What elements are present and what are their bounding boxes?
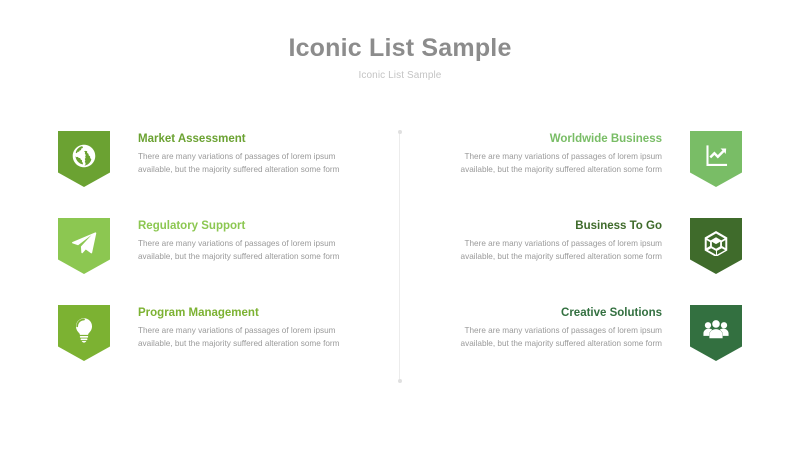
list-item-business-to-go[interactable]: Business To Go There are many variations… (442, 218, 742, 274)
badge-market-assessment (58, 131, 110, 187)
growth-chart-icon (703, 149, 729, 169)
item-title: Regulatory Support (138, 220, 358, 234)
list-item-worldwide-business[interactable]: Worldwide Business There are many variat… (442, 131, 742, 187)
globe-icon (71, 149, 97, 169)
item-title: Market Assessment (138, 133, 358, 147)
divider-cap-bottom (398, 379, 402, 383)
paper-plane-icon (71, 236, 97, 256)
badge-regulatory-support (58, 218, 110, 274)
item-description: There are many variations of passages of… (442, 237, 662, 264)
page-subtitle: Iconic List Sample (0, 70, 800, 81)
list-item-program-management[interactable]: Program Management There are many variat… (58, 305, 358, 361)
list-item-creative-solutions[interactable]: Creative Solutions There are many variat… (442, 305, 742, 361)
item-title: Worldwide Business (442, 133, 662, 147)
lightbulb-icon (71, 323, 97, 343)
item-description: There are many variations of passages of… (442, 324, 662, 351)
text-block: Business To Go There are many variations… (442, 218, 662, 263)
center-divider (399, 131, 400, 382)
item-title: Business To Go (442, 220, 662, 234)
list-item-regulatory-support[interactable]: Regulatory Support There are many variat… (58, 218, 358, 274)
divider-line (399, 131, 400, 382)
text-block: Creative Solutions There are many variat… (442, 305, 662, 350)
people-group-icon (703, 323, 729, 343)
list-item-market-assessment[interactable]: Market Assessment There are many variati… (58, 131, 358, 187)
cube-box-icon (703, 236, 729, 256)
text-block: Market Assessment There are many variati… (138, 131, 358, 176)
text-block: Regulatory Support There are many variat… (138, 218, 358, 263)
badge-business-to-go (690, 218, 742, 274)
item-description: There are many variations of passages of… (138, 237, 358, 264)
text-block: Program Management There are many variat… (138, 305, 358, 350)
item-title: Creative Solutions (442, 307, 662, 321)
text-block: Worldwide Business There are many variat… (442, 131, 662, 176)
badge-worldwide-business (690, 131, 742, 187)
item-description: There are many variations of passages of… (442, 150, 662, 177)
slide-header: Iconic List Sample Iconic List Sample (0, 34, 800, 81)
page-title: Iconic List Sample (0, 34, 800, 63)
divider-cap-top (398, 130, 402, 134)
badge-program-management (58, 305, 110, 361)
item-description: There are many variations of passages of… (138, 324, 358, 351)
badge-creative-solutions (690, 305, 742, 361)
item-description: There are many variations of passages of… (138, 150, 358, 177)
item-title: Program Management (138, 307, 358, 321)
